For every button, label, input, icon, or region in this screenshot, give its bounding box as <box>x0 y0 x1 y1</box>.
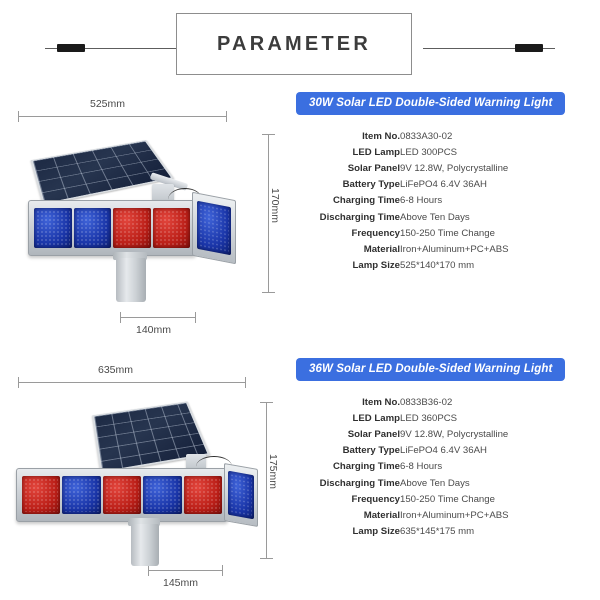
spec-label: LED Lamp <box>296 144 400 160</box>
spec-label: Discharging Time <box>296 209 400 225</box>
product-spec-30w: 30W Solar LED Double-Sided Warning Light… <box>296 92 592 274</box>
spec-label: Frequency <box>296 225 400 241</box>
spec-label: Battery Type <box>296 443 400 459</box>
spec-label: LED Lamp <box>296 410 400 426</box>
height-dimension-cap-bottom <box>260 558 273 559</box>
spec-row: LED LampLED 300PCS <box>296 144 566 160</box>
spec-row: Solar Panel9V 12.8W, Polycrystalline <box>296 426 566 442</box>
spec-value: 150-250 Time Change <box>400 491 566 507</box>
width-dimension-label: 635mm <box>98 364 133 376</box>
led-panel-end <box>228 471 254 519</box>
spec-value: Above Ten Days <box>400 475 566 491</box>
height-dimension-cap-bottom <box>262 292 275 293</box>
page-header: PARAMETER <box>0 0 600 92</box>
spec-value: Iron+Aluminum+PC+ABS <box>400 507 566 523</box>
mounting-pole <box>131 524 159 566</box>
spec-row: Item No.0833A30-02 <box>296 128 566 144</box>
product-spec-36w: 36W Solar LED Double-Sided Warning Light… <box>296 358 592 540</box>
spec-label: Material <box>296 241 400 257</box>
spec-value: 525*140*170 mm <box>400 258 566 274</box>
spec-value: 6-8 Hours <box>400 459 566 475</box>
header-dash-right <box>515 44 543 52</box>
product-figure-36w: 635mm 175mm 145mm <box>0 358 290 600</box>
spec-value: LiFePO4 6.4V 36AH <box>400 177 566 193</box>
led-light-bar <box>16 468 228 522</box>
spec-label: Lamp Size <box>296 258 400 274</box>
width-dimension-label: 525mm <box>90 98 125 110</box>
spec-row: Discharging TimeAbove Ten Days <box>296 475 566 491</box>
depth-dimension-label: 140mm <box>136 324 171 336</box>
spec-row: Charging Time6-8 Hours <box>296 193 566 209</box>
spec-label: Solar Panel <box>296 160 400 176</box>
led-end-face <box>192 192 236 265</box>
spec-value: 635*145*175 mm <box>400 524 566 540</box>
spec-row: Solar Panel9V 12.8W, Polycrystalline <box>296 160 566 176</box>
spec-table-body: Item No.0833A30-02LED LampLED 300PCSSola… <box>296 128 566 274</box>
spec-row: MaterialIron+Aluminum+PC+ABS <box>296 241 566 257</box>
product-block-30w: 525mm 170mm 140mm <box>0 92 600 346</box>
spec-value: 9V 12.8W, Polycrystalline <box>400 426 566 442</box>
depth-dimension-line <box>120 317 195 318</box>
spec-row: Battery TypeLiFePO4 6.4V 36AH <box>296 177 566 193</box>
width-dimension-cap-left <box>18 111 19 122</box>
led-panel-1 <box>34 208 72 248</box>
spec-row: MaterialIron+Aluminum+PC+ABS <box>296 507 566 523</box>
spec-row: Charging Time6-8 Hours <box>296 459 566 475</box>
led-panel-5 <box>184 476 222 514</box>
product-banner-title: 30W Solar LED Double-Sided Warning Light <box>296 92 565 115</box>
width-dimension-line <box>18 382 245 383</box>
depth-dimension-cap-left <box>148 565 149 576</box>
led-panel-3 <box>103 476 141 514</box>
spec-value: LED 360PCS <box>400 410 566 426</box>
spec-label: Charging Time <box>296 193 400 209</box>
width-dimension-cap-right <box>226 111 227 122</box>
product-banner-title: 36W Solar LED Double-Sided Warning Light <box>296 358 565 381</box>
spec-label: Lamp Size <box>296 524 400 540</box>
spec-label: Solar Panel <box>296 426 400 442</box>
spec-value: LiFePO4 6.4V 36AH <box>400 443 566 459</box>
led-light-bar <box>28 200 196 256</box>
header-dash-left <box>57 44 85 52</box>
spec-table-body: Item No.0833B36-02LED LampLED 360PCSSola… <box>296 394 566 540</box>
spec-value: 9V 12.8W, Polycrystalline <box>400 160 566 176</box>
mounting-pole <box>116 258 146 302</box>
led-panel-4 <box>153 208 191 248</box>
width-dimension-line <box>18 116 226 117</box>
spec-value: 0833B36-02 <box>400 394 566 410</box>
spec-row: Frequency150-250 Time Change <box>296 491 566 507</box>
product-block-36w: 635mm 175mm 145mm <box>0 358 600 600</box>
spec-row: Lamp Size525*140*170 mm <box>296 258 566 274</box>
spec-row: Discharging TimeAbove Ten Days <box>296 209 566 225</box>
height-dimension-cap-top <box>260 402 273 403</box>
depth-dimension-label: 145mm <box>163 577 198 589</box>
led-panel-2 <box>74 208 112 248</box>
led-panel-1 <box>22 476 60 514</box>
spec-row: Battery TypeLiFePO4 6.4V 36AH <box>296 443 566 459</box>
spec-label: Discharging Time <box>296 475 400 491</box>
height-dimension-cap-top <box>262 134 275 135</box>
product-figure-30w: 525mm 170mm 140mm <box>0 92 290 346</box>
depth-dimension-cap-right <box>195 312 196 323</box>
spec-value: LED 300PCS <box>400 144 566 160</box>
spec-label: Item No. <box>296 128 400 144</box>
height-dimension-label: 175mm <box>267 454 279 489</box>
spec-label: Battery Type <box>296 177 400 193</box>
spec-label: Charging Time <box>296 459 400 475</box>
led-panel-3 <box>113 208 151 248</box>
spec-row: Item No.0833B36-02 <box>296 394 566 410</box>
spec-value: 6-8 Hours <box>400 193 566 209</box>
width-dimension-cap-left <box>18 377 19 388</box>
spec-table-36w: Item No.0833B36-02LED LampLED 360PCSSola… <box>296 394 566 540</box>
led-panel-end <box>197 201 231 256</box>
depth-dimension-cap-right <box>222 565 223 576</box>
spec-value: 150-250 Time Change <box>400 225 566 241</box>
spec-label: Material <box>296 507 400 523</box>
width-dimension-cap-right <box>245 377 246 388</box>
page-title: PARAMETER <box>176 13 412 75</box>
spec-table-30w: Item No.0833A30-02LED LampLED 300PCSSola… <box>296 128 566 274</box>
depth-dimension-line <box>148 570 222 571</box>
spec-row: LED LampLED 360PCS <box>296 410 566 426</box>
spec-value: Iron+Aluminum+PC+ABS <box>400 241 566 257</box>
depth-dimension-cap-left <box>120 312 121 323</box>
spec-label: Frequency <box>296 491 400 507</box>
spec-row: Lamp Size635*145*175 mm <box>296 524 566 540</box>
spec-row: Frequency150-250 Time Change <box>296 225 566 241</box>
led-panel-2 <box>62 476 100 514</box>
spec-label: Item No. <box>296 394 400 410</box>
height-dimension-label: 170mm <box>269 188 281 223</box>
spec-value: Above Ten Days <box>400 209 566 225</box>
led-end-face <box>224 463 258 527</box>
led-panel-4 <box>143 476 181 514</box>
spec-value: 0833A30-02 <box>400 128 566 144</box>
